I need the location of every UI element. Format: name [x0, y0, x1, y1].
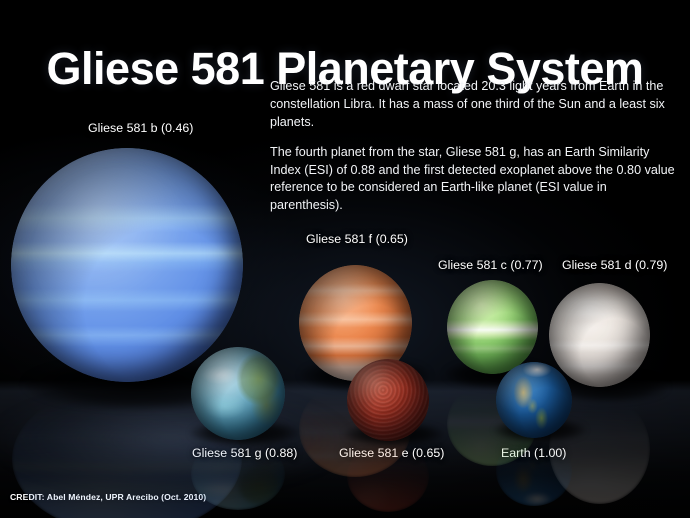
- planet-gliese-581-d[interactable]: [549, 283, 650, 387]
- reflection-gliese-581-g: [191, 438, 285, 510]
- reflection-gliese-581-e: [347, 440, 429, 512]
- label-gliese-581-b: Gliese 581 b (0.46): [88, 121, 193, 135]
- planet-gliese-581-g[interactable]: [191, 347, 285, 440]
- planet-earth[interactable]: [496, 362, 572, 438]
- reflection-earth: [496, 436, 572, 506]
- label-gliese-581-d: Gliese 581 d (0.79): [562, 258, 667, 272]
- label-gliese-581-f: Gliese 581 f (0.65): [306, 232, 408, 246]
- intro-paragraph-2: The fourth planet from the star, Gliese …: [270, 144, 678, 216]
- intro-text-block: Gliese 581 is a red dwarf star located 2…: [270, 78, 678, 215]
- gliese-581-poster: Gliese 581 Planetary System Gliese 581 i…: [0, 0, 690, 518]
- planet-gliese-581-b[interactable]: [11, 148, 243, 382]
- planet-gliese-581-e[interactable]: [347, 359, 429, 441]
- intro-paragraph-1: Gliese 581 is a red dwarf star located 2…: [270, 78, 678, 132]
- label-gliese-581-c: Gliese 581 c (0.77): [438, 258, 543, 272]
- planet-gliese-581-c[interactable]: [447, 280, 538, 374]
